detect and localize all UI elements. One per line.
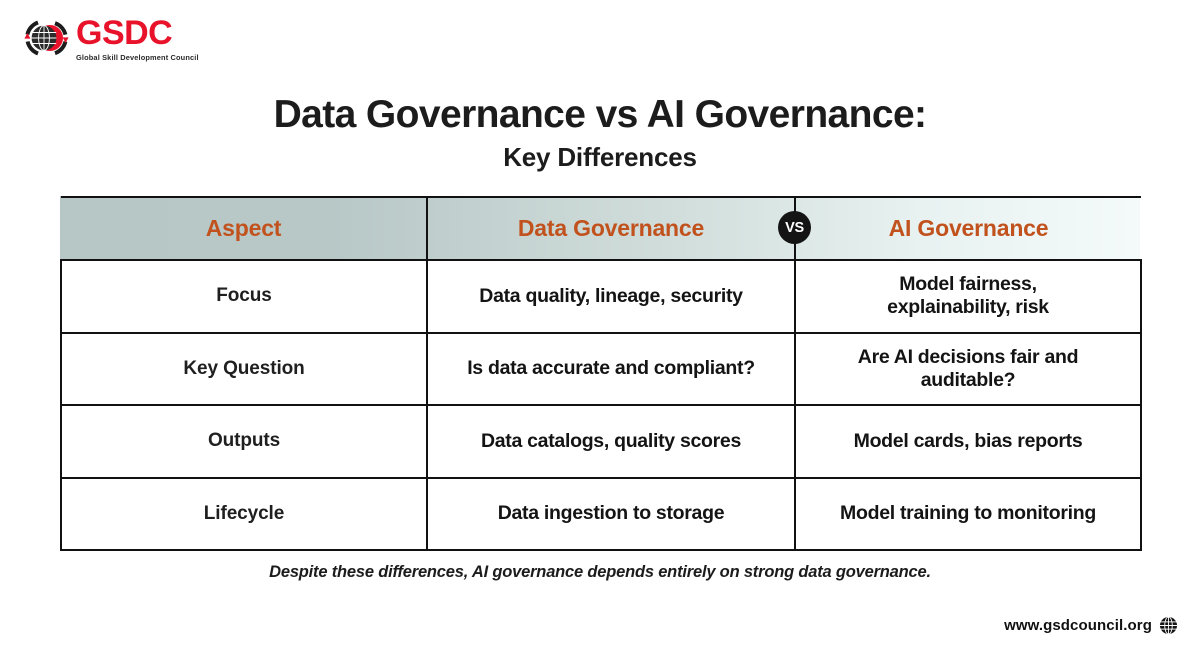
table-row: Lifecycle Data ingestion to storage Mode… [61,478,1141,551]
slide-canvas: GSDC Global Skill Development Council Da… [0,0,1200,650]
cell-ai-governance: Are AI decisions fair and auditable? [795,333,1141,406]
cell-aspect: Outputs [61,405,427,478]
cell-aspect: Lifecycle [61,478,427,551]
brand-logo[interactable]: GSDC Global Skill Development Council [22,14,199,62]
column-header-ai-governance: AI Governance [795,197,1141,260]
page-title: Data Governance vs AI Governance: [0,94,1200,136]
page-subtitle: Key Differences [0,142,1200,173]
vs-badge: VS [778,211,811,244]
comparison-table: Aspect Data Governance AI Governance Foc… [60,196,1140,549]
gsdc-globe-icon [22,14,72,62]
cell-ai-governance-line2: auditable? [921,369,1016,391]
cell-data-governance: Is data accurate and compliant? [427,333,795,406]
cell-ai-governance-line1: Model fairness, [899,273,1036,295]
title-block: Data Governance vs AI Governance: Key Di… [0,94,1200,173]
column-header-aspect-label: Aspect [206,215,282,242]
cell-aspect: Key Question [61,333,427,406]
footnote-text: Despite these differences, AI governance… [0,563,1200,582]
brand-tagline: Global Skill Development Council [76,53,199,62]
cell-ai-governance: Model cards, bias reports [795,405,1141,478]
column-header-data-governance: Data Governance [427,197,795,260]
table-row: Key Question Is data accurate and compli… [61,333,1141,406]
brand-name: GSDC [76,16,199,50]
cell-data-governance: Data quality, lineage, security [427,260,795,333]
website-url-label: www.gsdcouncil.org [1004,617,1152,634]
cell-ai-governance-line1: Are AI decisions fair and [858,346,1078,368]
table-header-row: Aspect Data Governance AI Governance [61,197,1141,260]
globe-icon [1159,616,1178,635]
column-header-ai-governance-label: AI Governance [889,215,1049,242]
cell-ai-governance: Model training to monitoring [795,478,1141,551]
website-link[interactable]: www.gsdcouncil.org [1004,616,1178,635]
cell-aspect: Focus [61,260,427,333]
column-header-data-governance-label: Data Governance [518,215,704,242]
cell-ai-governance-line2: explainability, risk [887,296,1049,318]
cell-ai-governance: Model fairness, explainability, risk [795,260,1141,333]
cell-data-governance: Data ingestion to storage [427,478,795,551]
table-row: Outputs Data catalogs, quality scores Mo… [61,405,1141,478]
column-header-aspect: Aspect [61,197,427,260]
cell-data-governance: Data catalogs, quality scores [427,405,795,478]
table-row: Focus Data quality, lineage, security Mo… [61,260,1141,333]
